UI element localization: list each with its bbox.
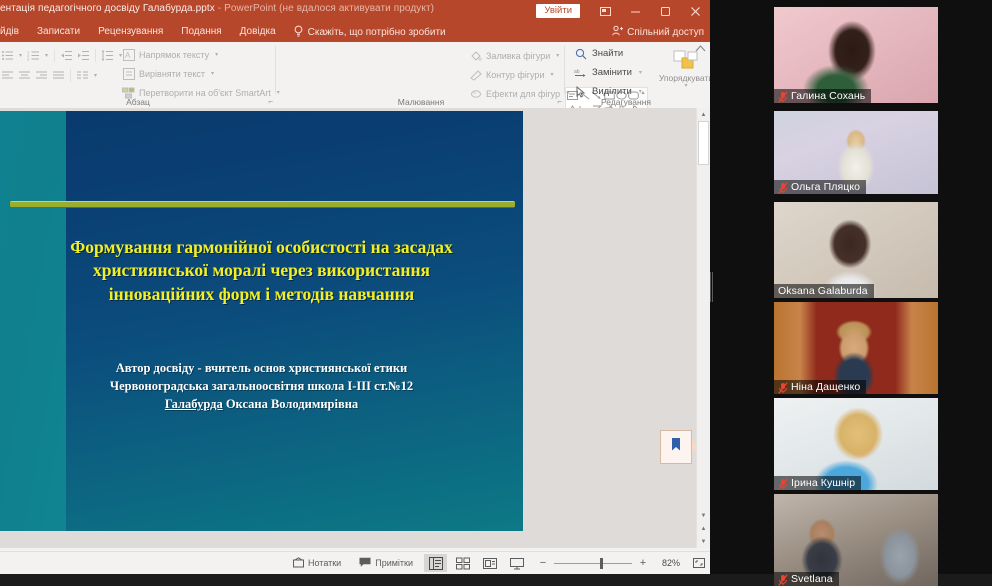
bullets-icon[interactable] <box>0 48 15 63</box>
ribbon: ▾ 123 ▾ ▾ ▾ <box>0 42 710 109</box>
line-spacing-icon[interactable] <box>100 48 115 63</box>
scroll-up-icon[interactable]: ▲ <box>697 108 710 121</box>
slide-author-line: Галабурда Оксана Володимирівна <box>18 395 505 413</box>
close-icon[interactable] <box>680 0 710 22</box>
share-person-icon <box>612 25 623 39</box>
view-normal[interactable] <box>424 554 447 572</box>
participant-name-bar: Ніна Дащенко <box>774 380 866 394</box>
scroll-down-icon[interactable]: ▼ <box>697 509 710 522</box>
tell-me-label: Скажіть, що потрібно зробити <box>308 27 446 38</box>
participant-name-bar: Галина Сохань <box>774 89 871 103</box>
text-direction-button[interactable]: A Напрямок тексту ▾ <box>122 48 220 61</box>
paragraph-dialog-launcher[interactable]: ⌐ <box>268 97 273 106</box>
chevron-down-icon: ▾ <box>637 69 644 76</box>
microphone-muted-icon <box>778 573 788 585</box>
comment-icon <box>359 557 371 570</box>
align-left-icon[interactable] <box>0 68 15 83</box>
participant-name-bar: Oksana Galaburda <box>774 284 874 298</box>
bookmark-icon <box>670 437 682 457</box>
ribbon-group-paragraph: ▾ 123 ▾ ▾ ▾ <box>0 42 276 108</box>
shape-fill-label: Заливка фігури <box>486 51 550 61</box>
text-direction-icon: A <box>122 48 135 61</box>
participant-name: Svetlana <box>791 573 833 585</box>
align-text-button[interactable]: Вирівняти текст ▾ <box>122 67 216 80</box>
zoom-control[interactable]: − + 82% <box>530 557 688 569</box>
svg-text:ab: ab <box>574 69 580 75</box>
numbering-icon[interactable]: 123 <box>26 48 41 63</box>
slide-title[interactable]: Формування гармонійної особистості на за… <box>18 236 505 306</box>
next-slide-icon[interactable]: ▼ <box>697 535 710 548</box>
columns-dropdown-icon[interactable]: ▾ <box>92 72 99 79</box>
divider <box>54 49 55 62</box>
divider <box>95 49 96 62</box>
comments-label: Примітки <box>375 558 413 568</box>
columns-icon[interactable] <box>75 68 90 83</box>
participant-name-bar: Ольга Пляцко <box>774 180 866 194</box>
divider <box>70 69 71 82</box>
fit-to-window-icon[interactable] <box>688 557 710 569</box>
justify-icon[interactable] <box>51 68 66 83</box>
shape-outline-label: Контур фігури <box>486 70 544 80</box>
minimize-icon[interactable] <box>620 0 650 22</box>
numbering-dropdown-icon[interactable]: ▾ <box>43 52 50 59</box>
slide-1[interactable]: Формування гармонійної особистості на за… <box>0 111 523 531</box>
powerpoint-window: ентація педагогічного досвіду Галабурда.… <box>0 0 710 574</box>
participant-name: Ніна Дащенко <box>791 381 860 393</box>
drawing-dialog-launcher[interactable]: ⌐ <box>557 97 562 106</box>
participant-name: Ірина Кушнір <box>791 477 855 489</box>
author-surname: Галабурда <box>165 397 223 411</box>
previous-slide-icon[interactable]: ▲ <box>697 522 710 535</box>
replace-label: Замінити <box>592 67 632 78</box>
comments-button[interactable]: Примітки <box>350 557 422 570</box>
author-given-names: Оксана Володимирівна <box>223 397 358 411</box>
zoom-out-button[interactable]: − <box>538 557 548 569</box>
tab-slides-cut[interactable]: йдів <box>0 22 28 42</box>
tab-help[interactable]: Довідка <box>231 22 285 42</box>
ribbon-display-options-icon[interactable] <box>590 0 620 22</box>
participant-name: Oksana Galaburda <box>778 285 868 297</box>
slide-subtitle-line-1: Автор досвіду - вчитель основ християнсь… <box>18 359 505 377</box>
slide-title-line-3: інноваційних форм і методів навчання <box>18 283 505 306</box>
tell-me-search[interactable]: Скажіть, що потрібно зробити <box>285 25 446 40</box>
app-name-activation: PowerPoint (не вдалося активувати продук… <box>224 3 434 14</box>
replace-icon: ab <box>574 66 587 79</box>
share-button[interactable]: Спільний доступ <box>612 22 704 42</box>
slide-panel <box>66 111 523 531</box>
view-slideshow[interactable] <box>505 554 528 572</box>
shape-outline-button[interactable]: Контур фігури ▾ <box>469 68 555 81</box>
replace-button[interactable]: ab Замінити ▾ <box>574 66 644 79</box>
tile-olha-pliatsko[interactable]: Ольга Пляцко <box>774 111 938 194</box>
shape-outline-icon <box>469 68 482 81</box>
slide-subtitle-line-2: Червоноградська загальноосвітня школа I-… <box>18 377 505 395</box>
view-reading[interactable] <box>478 554 501 572</box>
chevron-down-icon: ▾ <box>637 88 644 95</box>
notes-label: Нотатки <box>308 558 341 568</box>
chevron-down-icon: ▾ <box>213 51 220 58</box>
window-title: ентація педагогічного досвіду Галабурда.… <box>0 3 434 14</box>
participant-name-bar: Svetlana <box>774 572 839 586</box>
screen: ентація педагогічного досвіду Галабурда.… <box>0 0 992 574</box>
ribbon-group-label-drawing: Малювання <box>277 97 565 107</box>
divider <box>564 46 565 94</box>
tile-galyna-sokhan[interactable]: Галина Сохань <box>774 7 938 103</box>
tile-iryna-kushnir[interactable]: Ірина Кушнір <box>774 398 938 490</box>
tab-review[interactable]: Рецензування <box>89 22 172 42</box>
ribbon-group-editing: Знайти ab Замінити ▾ Виділити ▾ Редагу <box>566 42 686 108</box>
svg-text:A: A <box>125 51 131 60</box>
tile-svetlana[interactable]: Svetlana <box>774 494 938 586</box>
lightbulb-icon <box>293 25 304 40</box>
microphone-muted-icon <box>778 477 788 489</box>
select-label: Виділити <box>592 86 632 97</box>
align-center-icon[interactable] <box>17 68 32 83</box>
zoom-slider[interactable] <box>554 563 632 564</box>
chevron-down-icon: ▾ <box>554 52 561 59</box>
ribbon-group-drawing: ▴ ▾ ▾ Упорядкувати ▾ Експрес- ст <box>277 42 565 108</box>
slide-subtitle[interactable]: Автор досвіду - вчитель основ християнсь… <box>18 359 505 413</box>
document-name: ентація педагогічного досвіду Галабурда.… <box>0 3 215 14</box>
align-text-label: Вирівняти текст <box>139 69 205 79</box>
tab-record[interactable]: Записати <box>28 22 89 42</box>
microphone-muted-icon <box>778 381 788 393</box>
tile-oksana-galaburda[interactable]: Oksana Galaburda <box>774 202 938 298</box>
text-direction-label: Напрямок тексту <box>139 50 209 60</box>
microphone-muted-icon <box>778 90 788 102</box>
participant-name: Галина Сохань <box>791 90 865 102</box>
slide-accent-line <box>10 201 515 208</box>
view-slide-sorter[interactable] <box>451 554 474 572</box>
ribbon-group-label-paragraph: Абзац <box>0 97 276 107</box>
title-bar: ентація педагогічного досвіду Галабурда.… <box>0 0 710 22</box>
shape-fill-button[interactable]: Заливка фігури ▾ <box>469 49 561 62</box>
zoom-in-button[interactable]: + <box>638 557 648 569</box>
scrollbar-thumb[interactable] <box>698 121 709 165</box>
bullets-dropdown-icon[interactable]: ▾ <box>17 52 24 59</box>
shape-fill-icon <box>469 49 482 62</box>
chevron-up-icon[interactable] <box>695 44 706 55</box>
svg-text:3: 3 <box>27 57 30 62</box>
title-separator: - <box>218 3 221 14</box>
status-bar: Нотатки Примітки − <box>0 551 710 574</box>
notes-button[interactable]: Нотатки <box>284 557 350 570</box>
panel-resize-grip[interactable] <box>710 272 714 302</box>
video-conference-panel: Галина Сохань Ольга Пляцко Oksana Galabu… <box>710 0 992 574</box>
align-right-icon[interactable] <box>34 68 49 83</box>
zoom-slider-handle[interactable] <box>600 558 603 569</box>
slide-title-line-2: християнської моралі через використання <box>18 259 505 282</box>
sign-in-button[interactable]: Увійти <box>536 4 580 18</box>
convert-smartart-label: Перетворити на об'єкт SmartArt <box>139 88 271 98</box>
participant-name-bar: Ірина Кушнір <box>774 476 861 490</box>
tile-nina-dashchenko[interactable]: Ніна Дащенко <box>774 302 938 394</box>
increase-indent-icon[interactable] <box>76 48 91 63</box>
find-button[interactable]: Знайти <box>574 47 623 60</box>
ribbon-tab-bar: йдів Записати Рецензування Подання Довід… <box>0 22 710 42</box>
divider <box>275 46 276 94</box>
tab-view[interactable]: Подання <box>172 22 230 42</box>
zoom-percent-label[interactable]: 82% <box>654 558 680 568</box>
ribbon-group-label-editing: Редагування <box>566 97 686 107</box>
participant-name: Ольга Пляцко <box>791 181 860 193</box>
chevron-down-icon: ▾ <box>548 71 555 78</box>
vertical-scrollbar[interactable]: ▲ ▼ ▲ ▼ <box>696 108 710 548</box>
microphone-muted-icon <box>778 181 788 193</box>
search-icon <box>574 47 587 60</box>
chevron-down-icon: ▾ <box>209 70 216 77</box>
align-text-icon <box>122 67 135 80</box>
share-label: Спільний доступ <box>627 27 704 38</box>
slide-title-line-1: Формування гармонійної особистості на за… <box>18 236 505 259</box>
designer-button[interactable] <box>660 430 692 464</box>
participant-strip: Галина Сохань Ольга Пляцко Oksana Galabu… <box>774 0 992 574</box>
restore-icon[interactable] <box>650 0 680 22</box>
notes-icon <box>293 557 304 570</box>
find-label: Знайти <box>592 48 623 59</box>
slide-canvas[interactable]: Формування гармонійної особистості на за… <box>0 108 710 548</box>
window-controls: Увійти <box>536 0 710 22</box>
decrease-indent-icon[interactable] <box>59 48 74 63</box>
